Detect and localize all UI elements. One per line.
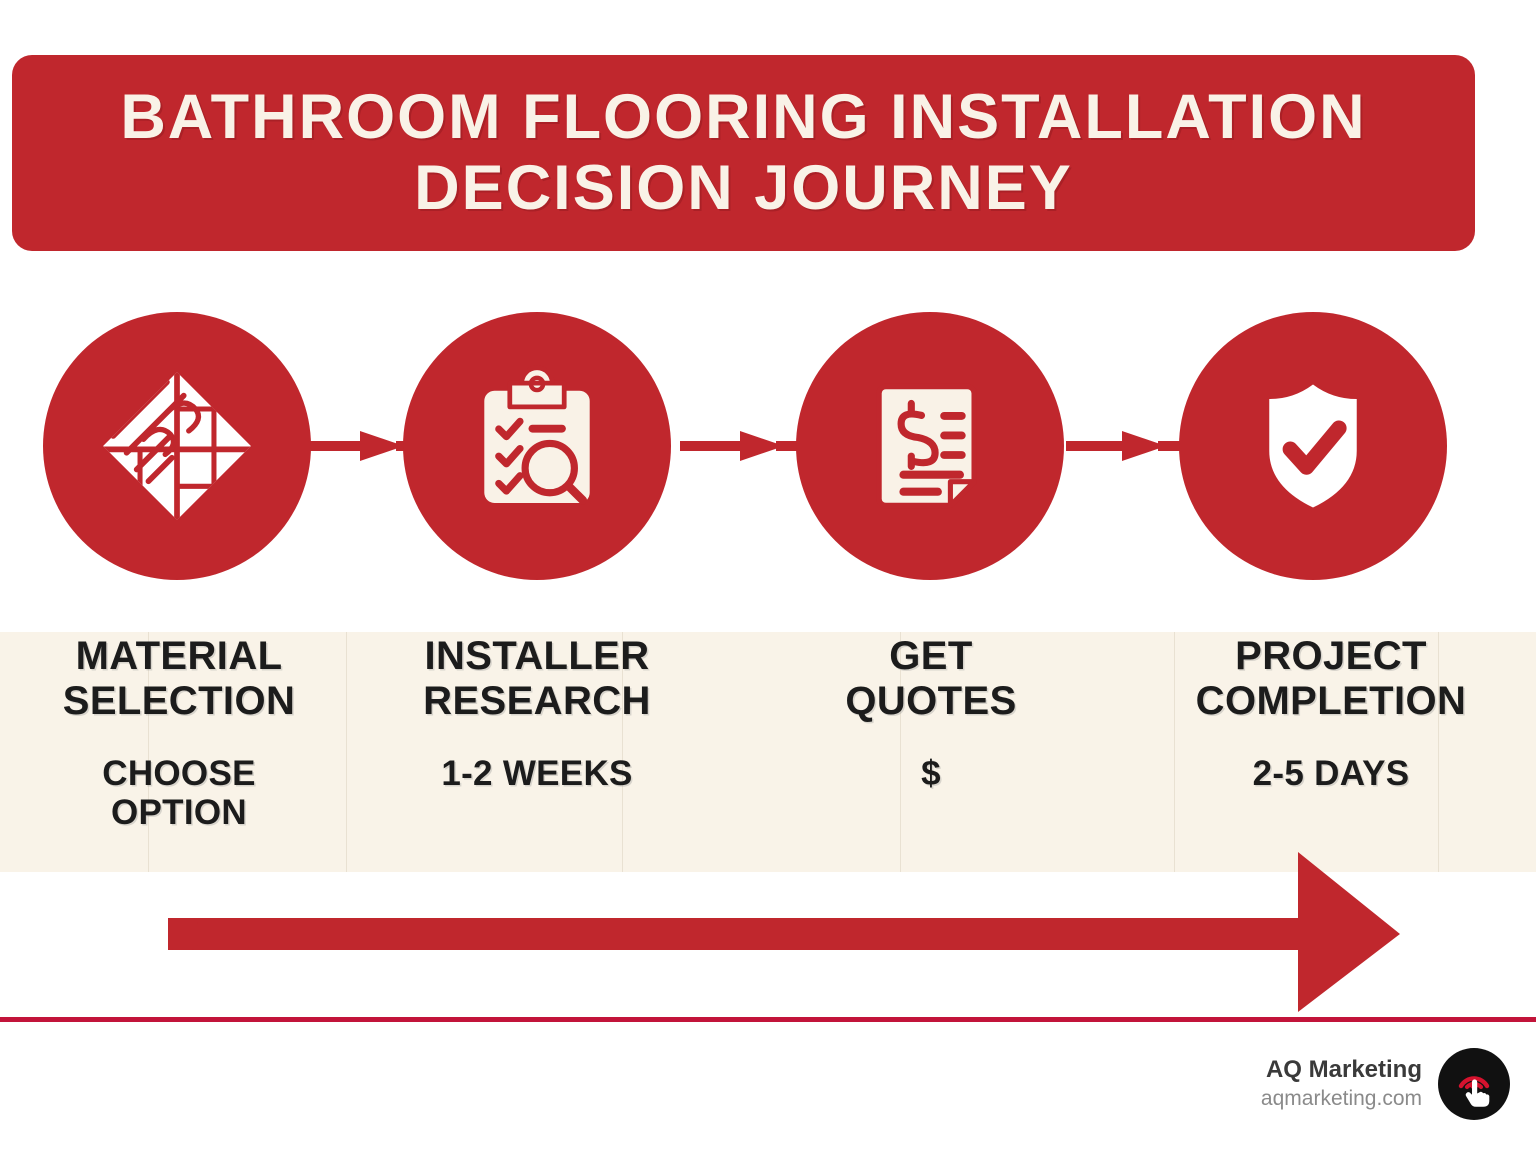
step-title: PROJECT COMPLETION: [1166, 634, 1496, 724]
step-title-line-2: RESEARCH: [423, 679, 651, 723]
step-meta-line-1: 2-5 DAYS: [1253, 754, 1410, 793]
progress-arrow: [168, 852, 1400, 1012]
step-meta: 2-5 DAYS: [1166, 754, 1496, 794]
brand-logo: [1438, 1048, 1510, 1120]
band-divider: [346, 632, 347, 872]
step-title-line-2: COMPLETION: [1196, 679, 1467, 723]
title-banner: BATHROOM FLOORING INSTALLATION DECISION …: [12, 55, 1475, 251]
title-line-2: DECISION JOURNEY: [414, 153, 1073, 223]
step-title: INSTALLER RESEARCH: [372, 634, 702, 724]
step-circle-installer-research[interactable]: [403, 312, 671, 580]
step-circle-material-selection[interactable]: [43, 312, 311, 580]
step-label-material-selection: MATERIAL SELECTION CHOOSE OPTION: [14, 634, 344, 833]
step-meta: CHOOSE OPTION: [14, 754, 344, 834]
step-meta-line-1: $: [921, 754, 941, 793]
step-meta-line-1: 1-2 WEEKS: [441, 754, 632, 793]
step-title-line-1: MATERIAL: [76, 634, 283, 678]
step-label-installer-research: INSTALLER RESEARCH 1-2 WEEKS: [372, 634, 702, 793]
infographic-canvas: BATHROOM FLOORING INSTALLATION DECISION …: [0, 0, 1536, 1154]
step-label-get-quotes: GET QUOTES $: [766, 634, 1096, 793]
footer-divider: [0, 1017, 1536, 1022]
step-meta: $: [766, 754, 1096, 794]
step-circle-get-quotes[interactable]: [796, 312, 1064, 580]
step-title: GET QUOTES: [766, 634, 1096, 724]
step-title-line-1: PROJECT: [1235, 634, 1427, 678]
clipboard-search-icon: [452, 361, 622, 531]
step-icons-row: [0, 312, 1536, 582]
step-meta: 1-2 WEEKS: [372, 754, 702, 794]
brand-url[interactable]: aqmarketing.com: [1261, 1085, 1422, 1112]
step-meta-line-1: CHOOSE: [102, 754, 256, 793]
flooring-sample-icon: [93, 362, 261, 530]
step-title: MATERIAL SELECTION: [14, 634, 344, 724]
step-label-project-completion: PROJECT COMPLETION 2-5 DAYS: [1166, 634, 1496, 793]
brand-name: AQ Marketing: [1261, 1055, 1422, 1085]
step-title-line-1: INSTALLER: [424, 634, 649, 678]
tap-click-hand-icon: [1448, 1058, 1500, 1110]
invoice-dollar-icon: [845, 361, 1015, 531]
step-meta-line-2: OPTION: [111, 793, 247, 832]
footer-branding: AQ Marketing aqmarketing.com: [1261, 1048, 1510, 1120]
title-line-1: BATHROOM FLOORING INSTALLATION: [120, 82, 1366, 152]
step-circle-project-completion[interactable]: [1179, 312, 1447, 580]
step-title-line-1: GET: [889, 634, 972, 678]
shield-check-icon: [1232, 365, 1394, 527]
step-title-line-2: QUOTES: [845, 679, 1016, 723]
brand-text-block: AQ Marketing aqmarketing.com: [1261, 1055, 1422, 1112]
page-title: BATHROOM FLOORING INSTALLATION DECISION …: [120, 82, 1366, 223]
step-title-line-2: SELECTION: [63, 679, 296, 723]
